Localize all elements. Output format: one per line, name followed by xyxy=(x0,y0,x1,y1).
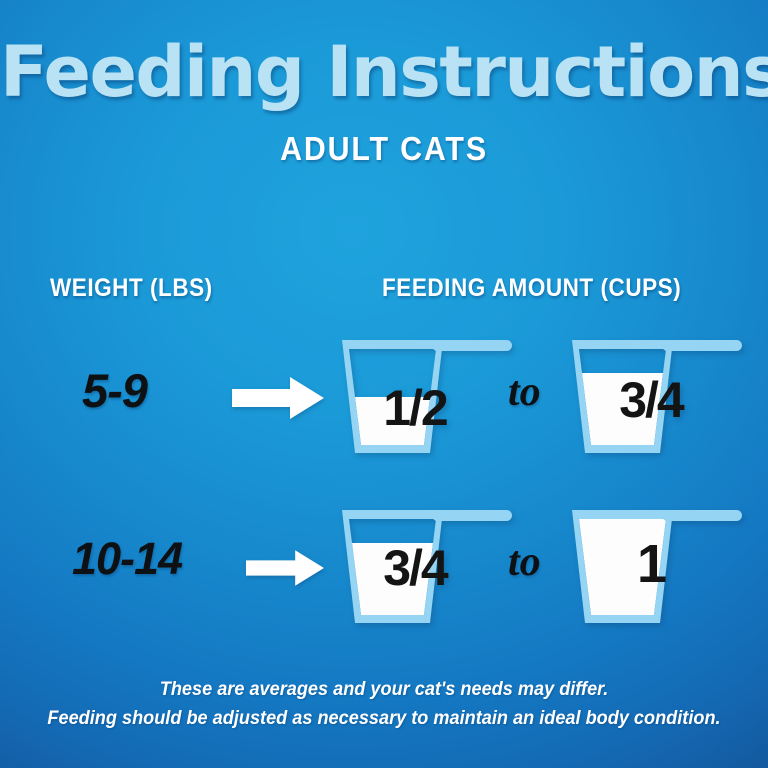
arrow-right-icon xyxy=(232,377,324,419)
column-header-feeding-amount: FEEDING AMOUNT (CUPS) xyxy=(382,274,681,303)
footer-note-line-2: Feeding should be adjusted as necessary … xyxy=(27,707,741,730)
range-separator: to xyxy=(508,368,541,416)
cup-amount-value: 1 xyxy=(576,533,726,595)
weight-range-value: 10-14 xyxy=(72,533,222,585)
table-row: 10-14 3/4 to xyxy=(0,495,768,635)
cup-amount-value: 1/2 xyxy=(340,379,490,437)
measuring-cup-min: 3/4 xyxy=(332,499,522,631)
range-separator: to xyxy=(508,538,541,586)
footer-note-line-1: These are averages and your cat's needs … xyxy=(27,678,741,701)
arrow-right-icon xyxy=(246,547,324,589)
page-title: Feeding Instructions xyxy=(0,36,768,110)
cup-amount-value: 3/4 xyxy=(340,539,490,597)
page-subtitle: ADULT CATS xyxy=(31,130,738,168)
weight-range-value: 5-9 xyxy=(82,363,232,418)
table-row: 5-9 1/2 to xyxy=(0,325,768,465)
feeding-instructions-panel: Feeding Instructions ADULT CATS WEIGHT (… xyxy=(0,0,768,768)
measuring-cup-min: 1/2 xyxy=(332,329,522,461)
measuring-cup-max: 3/4 xyxy=(562,329,752,461)
column-header-weight: WEIGHT (LBS) xyxy=(50,274,213,303)
cup-amount-value: 3/4 xyxy=(576,371,726,429)
measuring-cup-max: 1 xyxy=(562,499,752,631)
